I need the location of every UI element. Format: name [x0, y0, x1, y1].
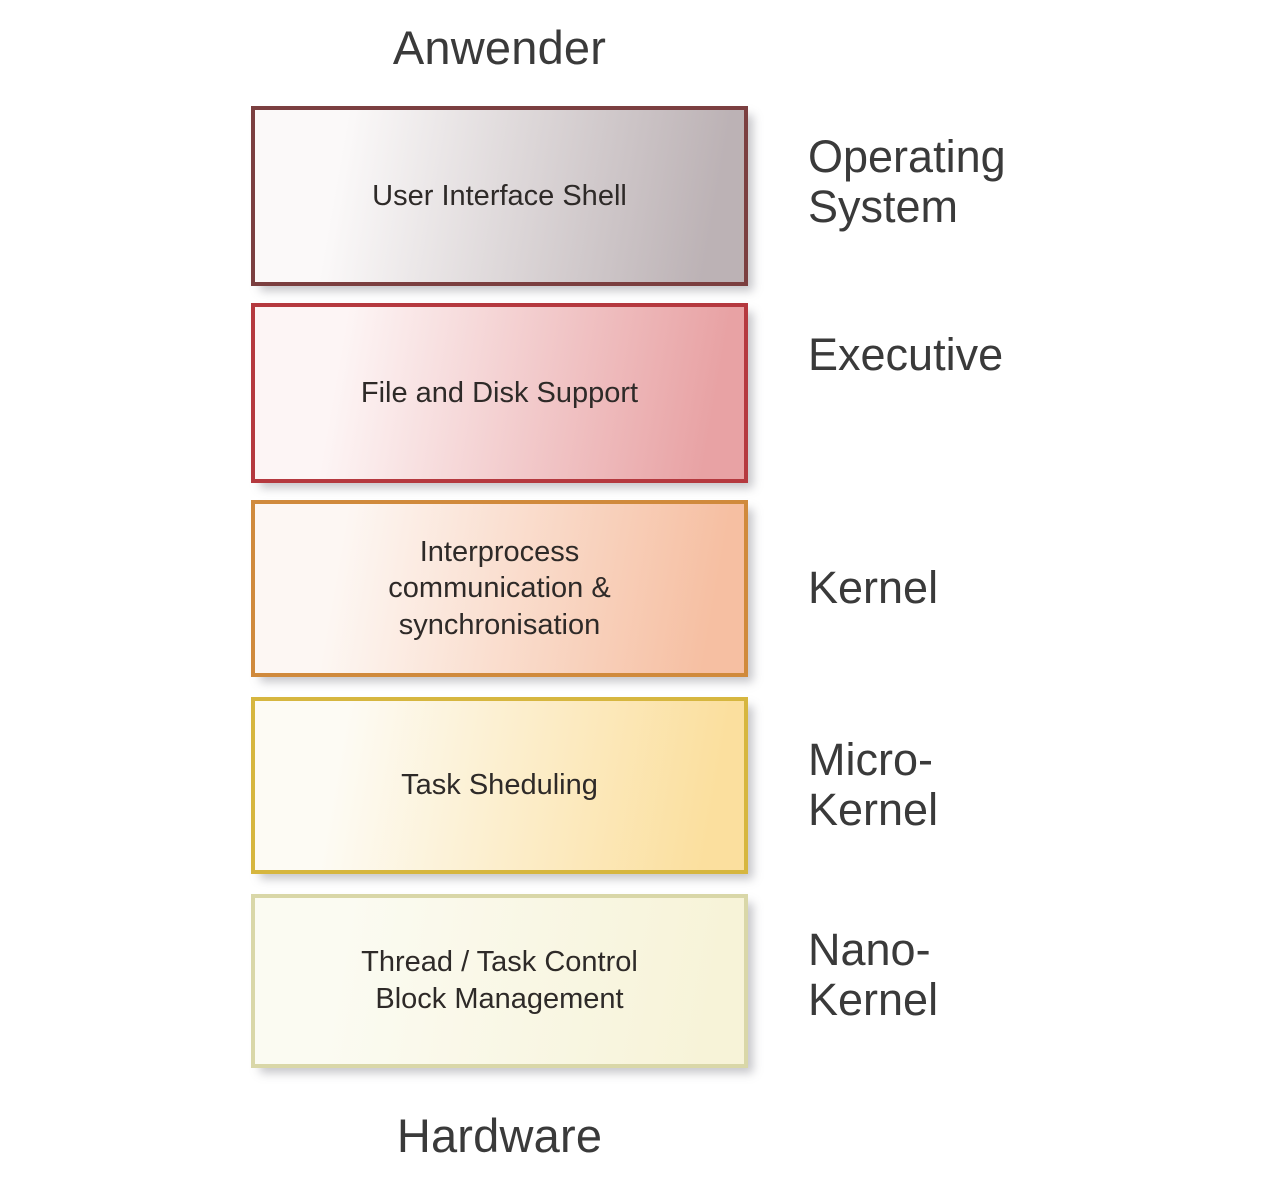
layer-box-task-scheduling[interactable]: Task Sheduling — [251, 697, 748, 874]
layer-box-user-interface-shell[interactable]: User Interface Shell — [251, 106, 748, 286]
layer-box-interprocess-communication[interactable]: Interprocess communication & synchronisa… — [251, 500, 748, 677]
tier-label-nano-kernel: Nano- Kernel — [808, 925, 1108, 1024]
layer-box-file-and-disk-support[interactable]: File and Disk Support — [251, 303, 748, 483]
tier-label-operating-system: Operating System — [808, 132, 1108, 231]
layer-label-interprocess-communication: Interprocess communication & synchronisa… — [378, 534, 620, 644]
layer-label-file-and-disk-support: File and Disk Support — [351, 375, 648, 412]
layer-label-user-interface-shell: User Interface Shell — [362, 178, 637, 215]
layer-label-task-scheduling: Task Sheduling — [391, 767, 608, 804]
layer-label-thread-task-control-block-management: Thread / Task Control Block Management — [351, 944, 648, 1017]
tier-label-micro-kernel: Micro- Kernel — [808, 735, 1108, 834]
top-caption-anwender: Anwender — [251, 20, 748, 75]
tier-label-kernel: Kernel — [808, 563, 1108, 613]
layer-box-thread-task-control-block-management[interactable]: Thread / Task Control Block Management — [251, 894, 748, 1068]
tier-label-executive: Executive — [808, 330, 1108, 380]
layered-architecture-diagram: Anwender User Interface Shell File and D… — [0, 0, 1280, 1190]
bottom-caption-hardware: Hardware — [251, 1108, 748, 1163]
